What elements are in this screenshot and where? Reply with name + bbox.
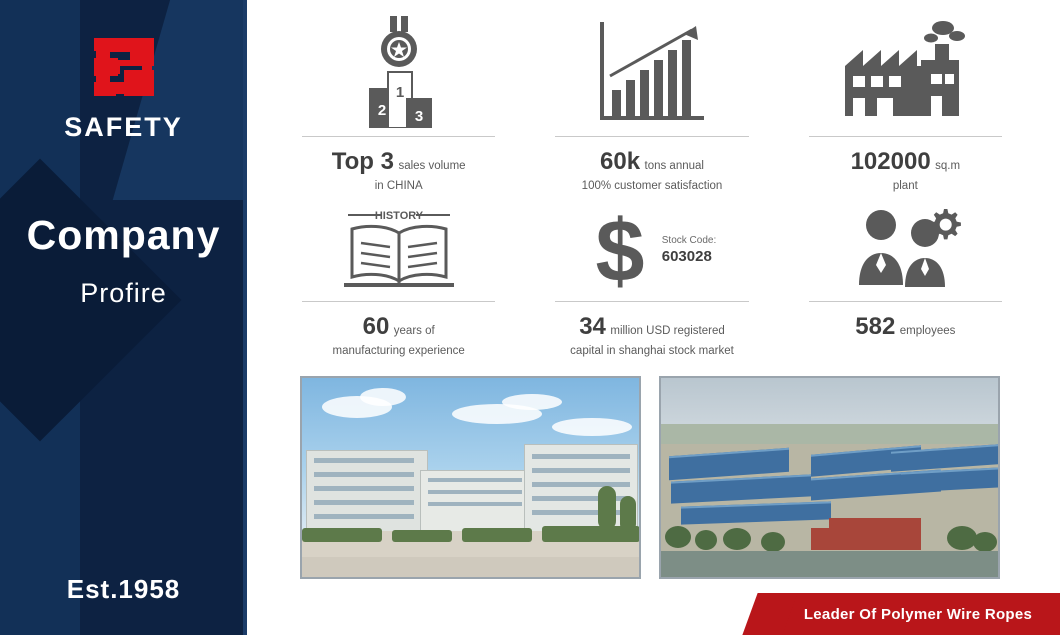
podium-medal-icon: 2 1 3 bbox=[286, 10, 511, 128]
svg-text:$: $ bbox=[595, 207, 644, 293]
stats-grid: 2 1 3 Top 3 sales volume in CHINA bbox=[272, 10, 1032, 367]
dollar-stock-block: $ Stock Code: 603028 bbox=[539, 201, 764, 293]
stat-subtext: 100% customer satisfaction bbox=[539, 179, 764, 194]
open-book-history-icon: HISTORY bbox=[286, 201, 511, 293]
stat-card-top3: 2 1 3 Top 3 sales volume in CHINA bbox=[272, 10, 525, 201]
factory-icon bbox=[793, 10, 1018, 128]
svg-text:1: 1 bbox=[395, 84, 403, 101]
divider bbox=[809, 136, 1002, 137]
stat-text: sales volume bbox=[398, 160, 465, 172]
stat-text-block: 582 employees bbox=[793, 312, 1018, 343]
stat-card-employees: 582 employees bbox=[779, 201, 1032, 366]
footer-banner: Leader Of Polymer Wire Ropes bbox=[770, 593, 1060, 635]
photo-row bbox=[300, 376, 1000, 579]
slide-root: SAFETY Company Profire Est.1958 bbox=[0, 0, 1060, 635]
stat-text: tons annual bbox=[645, 160, 704, 172]
stat-card-60k: 60k tons annual 100% customer satisfacti… bbox=[525, 10, 778, 201]
page-subtitle: Profire bbox=[0, 278, 247, 309]
stat-card-plant: 102000 sq.m plant bbox=[779, 10, 1032, 201]
svg-text:3: 3 bbox=[414, 108, 422, 125]
stat-subtext: in CHINA bbox=[286, 179, 511, 194]
footer-banner-text: Leader Of Polymer Wire Ropes bbox=[798, 606, 1032, 623]
stat-number: 582 bbox=[855, 313, 895, 340]
established-label: Est.1958 bbox=[0, 574, 247, 605]
stat-card-capital: $ Stock Code: 603028 34 million USD regi… bbox=[525, 201, 778, 366]
divider bbox=[555, 301, 748, 302]
stat-text-block: 34 million USD registered capital in sha… bbox=[539, 312, 764, 358]
stat-subtext: manufacturing experience bbox=[286, 344, 511, 359]
svg-text:HISTORY: HISTORY bbox=[375, 210, 424, 222]
employees-gear-icon bbox=[793, 201, 1018, 293]
divider bbox=[302, 301, 495, 302]
divider bbox=[555, 136, 748, 137]
stat-text: employees bbox=[900, 325, 956, 337]
stat-subtext: capital in shanghai stock market bbox=[539, 344, 764, 359]
logo-block: SAFETY bbox=[0, 36, 247, 143]
stat-text-block: 102000 sq.m plant bbox=[793, 147, 1018, 193]
stat-text-block: 60k tons annual 100% customer satisfacti… bbox=[539, 147, 764, 193]
stat-number: 60k bbox=[600, 148, 640, 175]
stock-code-label: Stock Code: bbox=[662, 234, 716, 247]
factory-aerial-photo bbox=[659, 376, 1000, 579]
stat-card-history: HISTORY bbox=[272, 201, 525, 366]
left-panel: SAFETY Company Profire Est.1958 bbox=[0, 0, 247, 635]
stat-number: 60 bbox=[363, 313, 390, 340]
stat-number: 102000 bbox=[851, 148, 931, 175]
stat-text: years of bbox=[394, 325, 435, 337]
safety-logo-icon bbox=[90, 36, 158, 98]
brand-name: SAFETY bbox=[0, 112, 247, 143]
stat-text: million USD registered bbox=[610, 325, 724, 337]
stat-number: Top 3 bbox=[332, 148, 394, 175]
svg-text:2: 2 bbox=[377, 102, 385, 119]
stock-code-block: Stock Code: 603028 bbox=[662, 234, 716, 267]
stat-text: sq.m bbox=[935, 160, 960, 172]
divider bbox=[809, 301, 1002, 302]
divider bbox=[302, 136, 495, 137]
stat-text-block: Top 3 sales volume in CHINA bbox=[286, 147, 511, 193]
stat-number: 34 bbox=[579, 313, 606, 340]
stat-text-block: 60 years of manufacturing experience bbox=[286, 312, 511, 358]
bar-chart-growth-icon bbox=[539, 10, 764, 128]
stat-subtext: plant bbox=[793, 179, 1018, 194]
dollar-sign-icon: $ bbox=[588, 207, 652, 293]
page-title: Company bbox=[0, 212, 247, 259]
stock-code-value: 603028 bbox=[662, 247, 716, 267]
office-building-photo bbox=[300, 376, 641, 579]
